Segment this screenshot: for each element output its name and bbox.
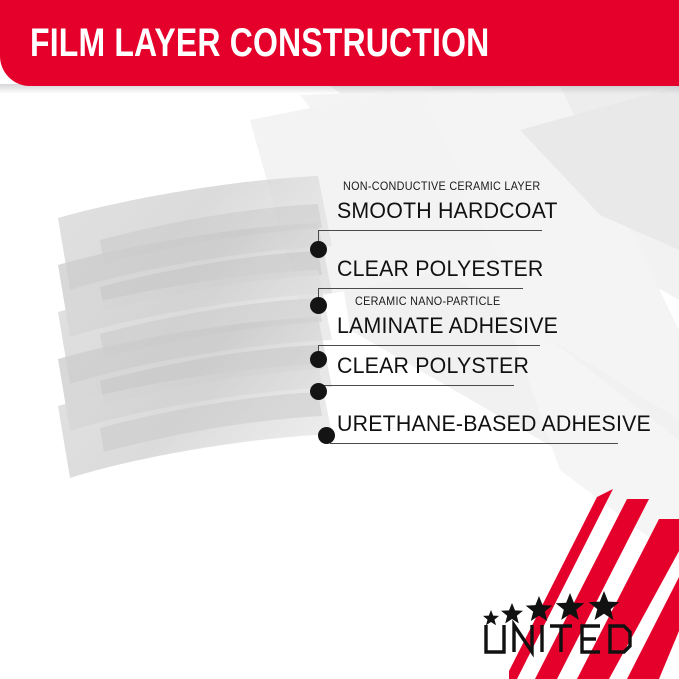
callout-4-rule bbox=[318, 385, 514, 386]
callout-3-main-label: LAMINATE ADHESIVE bbox=[337, 313, 558, 339]
callout-5-main-label: URETHANE-BASED ADHESIVE bbox=[337, 411, 651, 437]
brand-wordmark bbox=[482, 620, 634, 662]
callout-2-main-label: CLEAR POLYESTER bbox=[337, 256, 544, 282]
callout-3-sub-label: CERAMIC NANO-PARTICLE bbox=[355, 296, 500, 308]
callout-2-rule bbox=[318, 288, 523, 289]
callout-1-sub-label: NON-CONDUCTIVE CERAMIC LAYER bbox=[343, 181, 540, 193]
brand-logo bbox=[480, 590, 640, 665]
callout-1-main-label: SMOOTH HARDCOAT bbox=[337, 198, 558, 224]
callout-4-dot bbox=[310, 383, 327, 400]
callout-5-rule bbox=[330, 443, 618, 444]
callout-1-dot bbox=[310, 241, 327, 258]
callout-2-dot bbox=[310, 297, 327, 314]
callout-4-main-label: CLEAR POLYSTER bbox=[337, 353, 529, 379]
infographic-root: FILM LAYER CONSTRUCTION NON-CONDUCTIVE C… bbox=[0, 0, 679, 679]
callout-5-dot bbox=[318, 427, 335, 444]
callout-3-dot bbox=[310, 351, 327, 368]
callout-layer: NON-CONDUCTIVE CERAMIC LAYER SMOOTH HARD… bbox=[0, 0, 679, 679]
callout-3-rule bbox=[318, 345, 540, 346]
callout-1-rule bbox=[318, 230, 542, 231]
